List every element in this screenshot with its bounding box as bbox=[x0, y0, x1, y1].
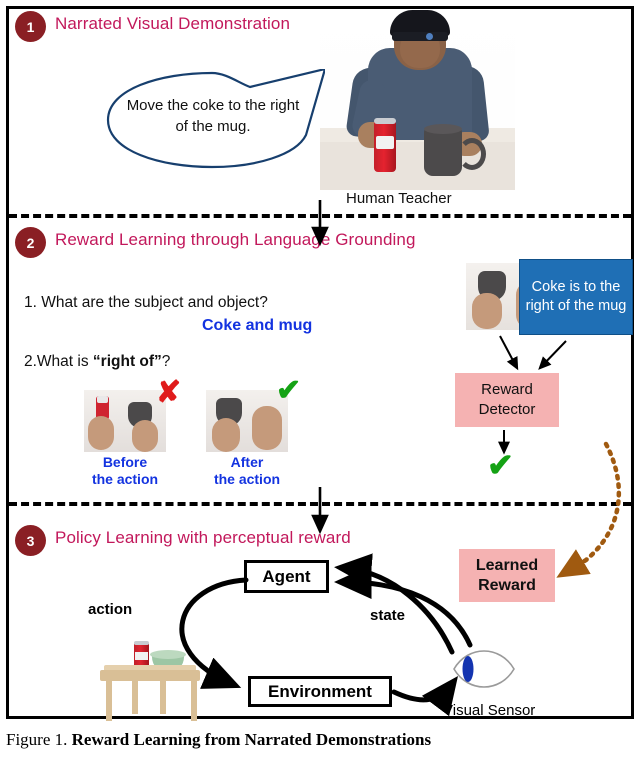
photo-hand-left bbox=[212, 418, 240, 452]
illustration-coke-can-top bbox=[134, 641, 149, 645]
cross-mark-icon: ✘ bbox=[156, 378, 181, 408]
photo-hand-right bbox=[252, 406, 282, 450]
agent-box: Agent bbox=[244, 560, 329, 593]
human-teacher-photo bbox=[320, 10, 515, 190]
illustration-bowl-rim bbox=[150, 650, 186, 659]
action-label: action bbox=[88, 601, 132, 618]
speech-bubble: Move the coke to the right of the mug. bbox=[100, 69, 325, 171]
step-badge-1: 1 bbox=[15, 11, 46, 42]
figure-caption: Figure 1. Reward Learning from Narrated … bbox=[6, 730, 634, 750]
caption-title: Reward Learning from Narrated Demonstrat… bbox=[72, 730, 431, 749]
photo-mug-handle bbox=[458, 138, 486, 170]
before-action-label: Beforethe action bbox=[70, 454, 180, 488]
step-badge-2: 2 bbox=[15, 227, 46, 258]
language-statement-box: Coke is to the right of the mug bbox=[519, 259, 633, 335]
question-1-text: 1. What are the subject and object? bbox=[24, 294, 268, 312]
environment-box: Environment bbox=[248, 676, 392, 707]
photo-coke-can-label bbox=[376, 136, 394, 149]
illustration-table-leg bbox=[191, 680, 197, 721]
illustration-table-leg bbox=[160, 680, 166, 714]
illustration-table-leg bbox=[132, 680, 138, 714]
step-title-1: Narrated Visual Demonstration bbox=[55, 14, 290, 34]
state-label: state bbox=[370, 607, 405, 624]
visual-sensor-icon bbox=[448, 639, 518, 699]
camera-lens-icon bbox=[426, 33, 433, 40]
question-2-prefix: 2.What is bbox=[24, 353, 93, 370]
learned-reward-box: Learned Reward bbox=[459, 549, 555, 602]
illustration-table-top bbox=[100, 670, 200, 681]
figure-container: 1 Narrated Visual Demonstration Human Te… bbox=[0, 0, 640, 761]
step-badge-3: 3 bbox=[15, 525, 46, 556]
question-2-suffix: ? bbox=[162, 353, 171, 370]
speech-bubble-text: Move the coke to the right of the mug. bbox=[122, 95, 304, 137]
photo-camera-visor bbox=[392, 32, 448, 41]
photo-hand-right bbox=[132, 420, 158, 452]
question-2-quoted: “right of” bbox=[93, 353, 162, 370]
question-2-text: 2.What is “right of”? bbox=[24, 353, 170, 371]
reward-detector-box: Reward Detector bbox=[455, 373, 559, 427]
before-action-photo bbox=[84, 390, 166, 452]
human-teacher-caption: Human Teacher bbox=[346, 190, 452, 207]
after-action-label: Afterthe action bbox=[192, 454, 302, 488]
section-divider-1 bbox=[9, 214, 631, 218]
photo-mug bbox=[424, 128, 462, 176]
photo-hand-left bbox=[472, 293, 502, 329]
illustration-coke-label bbox=[135, 652, 148, 660]
step-title-3: Policy Learning with perceptual reward bbox=[55, 528, 351, 548]
visual-sensor-label: Visual Sensor bbox=[443, 702, 535, 719]
detector-output-check-icon: ✔ bbox=[487, 449, 514, 481]
answer-1-text: Coke and mug bbox=[202, 317, 312, 335]
table-illustration bbox=[98, 637, 203, 722]
photo-coke-can-top bbox=[374, 118, 396, 124]
step-title-2: Reward Learning through Language Groundi… bbox=[55, 230, 416, 250]
caption-lead: Figure 1. bbox=[6, 730, 67, 749]
illustration-table-leg bbox=[106, 680, 112, 721]
check-mark-icon: ✔ bbox=[276, 376, 301, 406]
photo-mug-rim bbox=[424, 124, 462, 134]
photo-hand-left bbox=[88, 416, 114, 450]
photo-coke-can-top bbox=[97, 396, 108, 403]
section-divider-2 bbox=[9, 502, 631, 506]
